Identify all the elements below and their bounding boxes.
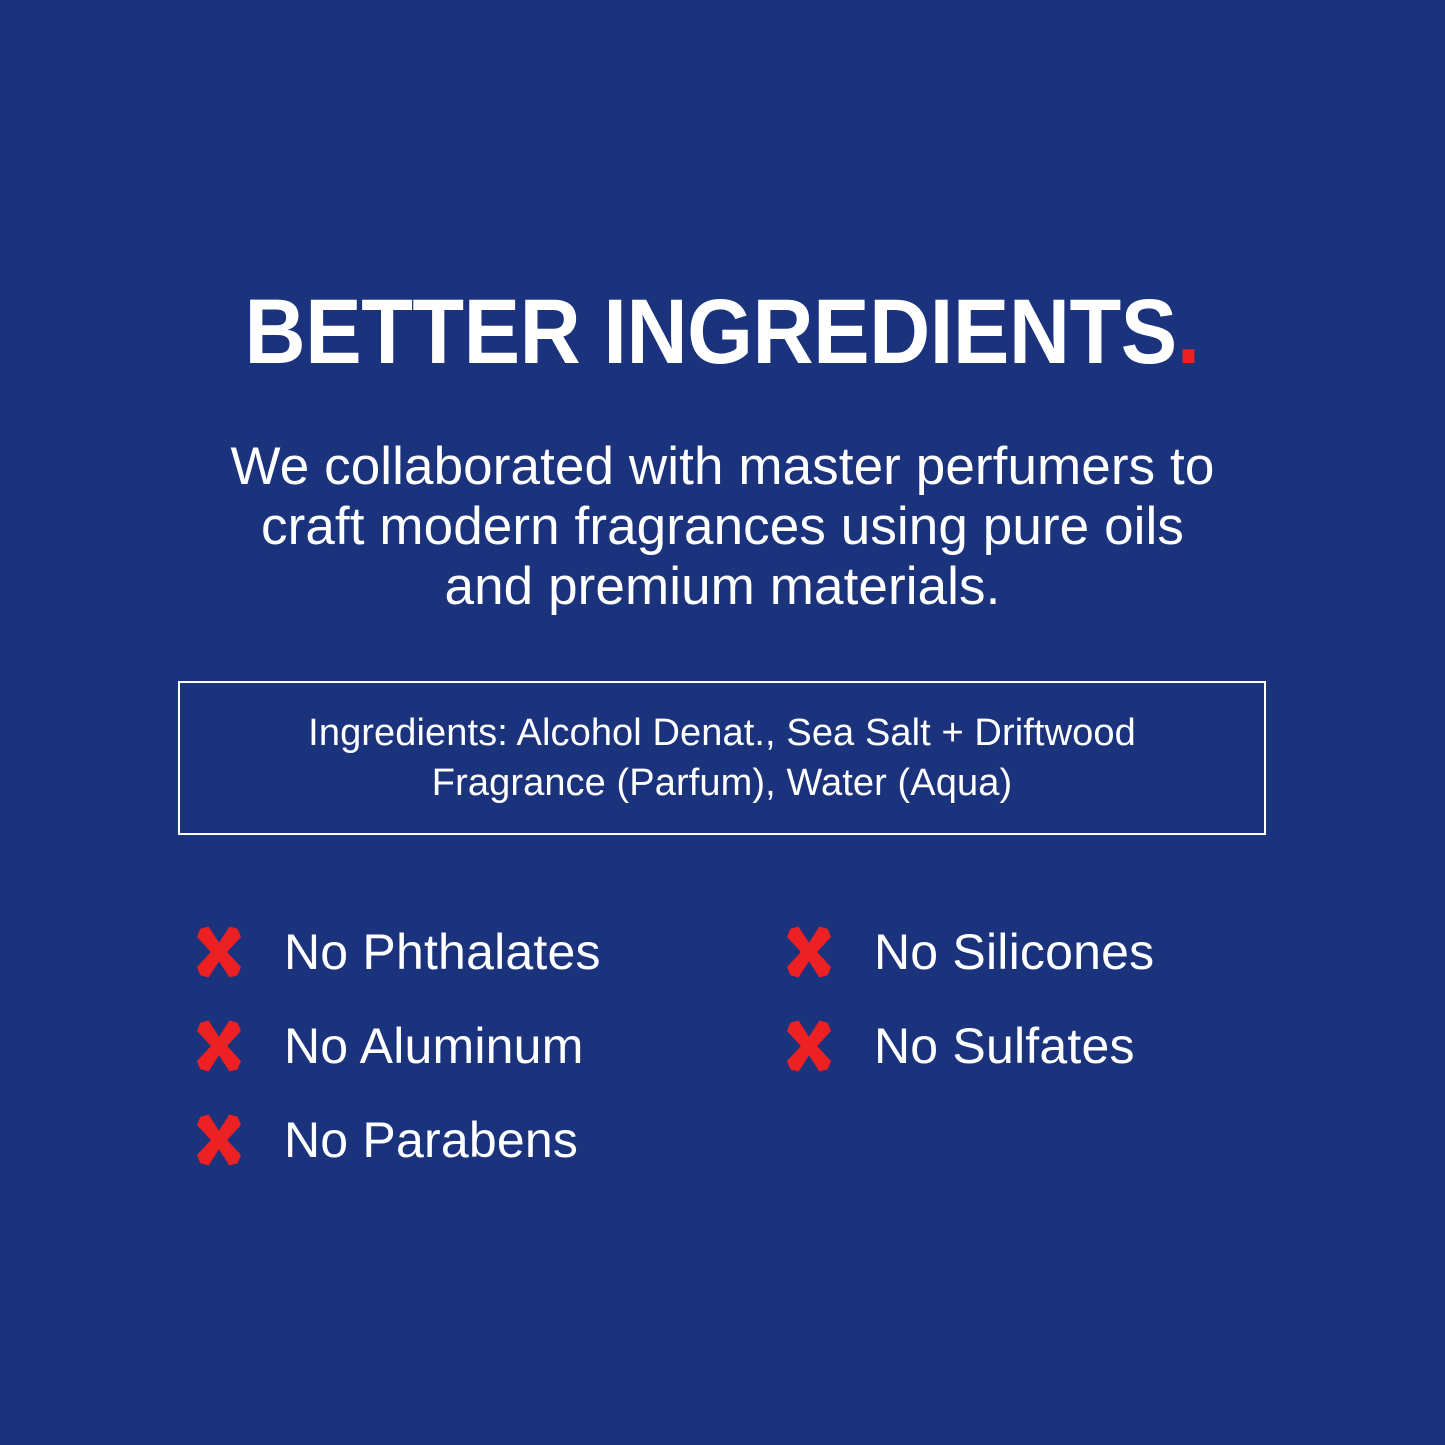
ingredients-panel: Ingredients: Alcohol Denat., Sea Salt + …	[178, 681, 1266, 835]
claim-item: No Silicones	[780, 905, 1320, 999]
claim-item: No Aluminum	[190, 999, 780, 1093]
claim-label: No Silicones	[874, 925, 1154, 979]
claim-label: No Parabens	[284, 1113, 578, 1167]
headline-container: BETTER INGREDIENTS.	[0, 286, 1445, 378]
red-x-icon	[780, 1017, 838, 1075]
subheading-line-3: and premium materials.	[228, 557, 1218, 617]
red-x-icon	[780, 923, 838, 981]
product-ingredients-poster: BETTER INGREDIENTS. We collaborated with…	[0, 0, 1445, 1445]
claim-label: No Phthalates	[284, 925, 601, 979]
subheading: We collaborated with master perfumers to…	[228, 437, 1218, 617]
headline-text: BETTER INGREDIENTS	[245, 281, 1177, 383]
ingredients-line-2: Fragrance (Parfum), Water (Aqua)	[257, 758, 1187, 808]
free-from-claims-grid: No Phthalates No Silicones No Aluminum	[190, 905, 1320, 1187]
headline-accent-period: .	[1177, 281, 1200, 383]
subheading-line-1: We collaborated with master perfumers to	[228, 437, 1218, 497]
red-x-icon	[190, 923, 248, 981]
claim-item: No Sulfates	[780, 999, 1320, 1093]
claim-item: No Parabens	[190, 1093, 780, 1187]
red-x-icon	[190, 1017, 248, 1075]
red-x-icon	[190, 1111, 248, 1169]
claim-label: No Aluminum	[284, 1019, 584, 1073]
page-title: BETTER INGREDIENTS.	[245, 286, 1200, 378]
ingredients-text: Ingredients: Alcohol Denat., Sea Salt + …	[257, 708, 1187, 808]
ingredients-line-1: Ingredients: Alcohol Denat., Sea Salt + …	[257, 708, 1187, 758]
subheading-line-2: craft modern fragrances using pure oils	[228, 497, 1218, 557]
claim-label: No Sulfates	[874, 1019, 1135, 1073]
claim-item: No Phthalates	[190, 905, 780, 999]
